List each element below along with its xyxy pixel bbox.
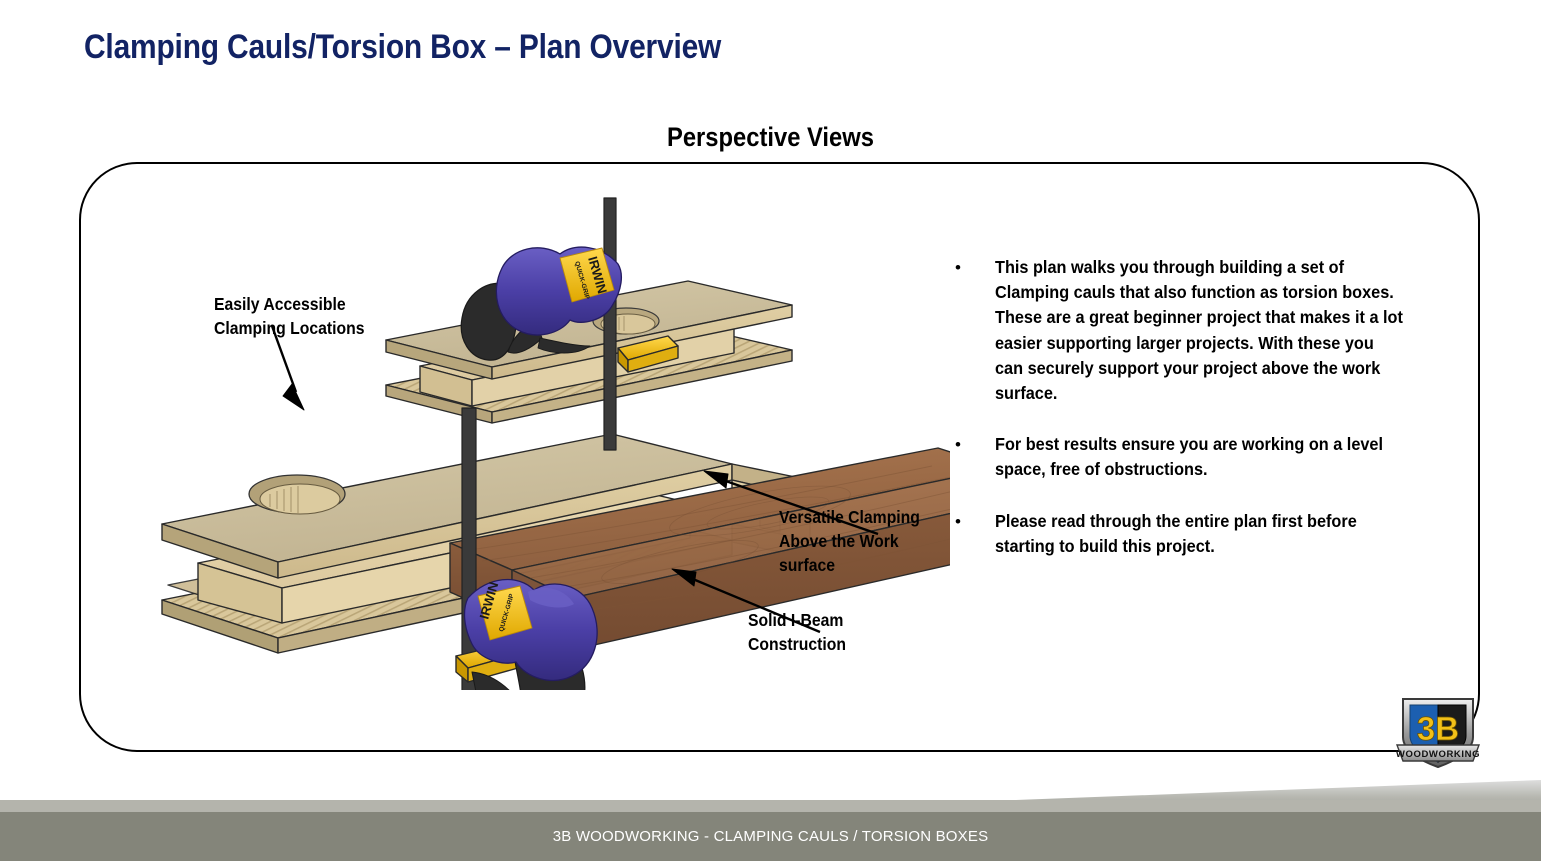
callout-versatile-clamping-above-the-work-surface: Versatile Clamping Above the Work surfac… <box>779 505 920 577</box>
bullet-text: This plan walks you through building a s… <box>995 255 1404 406</box>
overview-bullet-list: • This plan walks you through building a… <box>955 255 1435 585</box>
brand-logo: 3B WOODWORKING <box>1389 693 1487 771</box>
list-item: • Please read through the entire plan fi… <box>955 509 1435 559</box>
callout-easily-accessible-clamping-locations: Easily Accessible Clamping Locations <box>214 292 365 340</box>
list-item: • This plan walks you through building a… <box>955 255 1435 406</box>
list-item: • For best results ensure you are workin… <box>955 432 1435 482</box>
callout-solid-i-beam-construction: Solid I-Beam Construction <box>748 608 846 656</box>
slide-root: Clamping Cauls/Torsion Box – Plan Overvi… <box>0 0 1541 861</box>
section-heading: Perspective Views <box>667 122 874 153</box>
logo-initials: 3B <box>1417 710 1459 747</box>
bullet-marker: • <box>955 432 995 482</box>
bullet-marker: • <box>955 255 995 406</box>
bullet-marker: • <box>955 509 995 559</box>
footer-accent-strip <box>0 800 1541 812</box>
footer-text: 3B WOODWORKING - CLAMPING CAULS / TORSIO… <box>0 828 1541 845</box>
bullet-text: For best results ensure you are working … <box>995 432 1404 482</box>
page-title: Clamping Cauls/Torsion Box – Plan Overvi… <box>84 28 721 67</box>
arrow-accessible-head <box>283 384 304 410</box>
bullet-text: Please read through the entire plan firs… <box>995 509 1404 559</box>
logo-banner-text: WOODWORKING <box>1396 749 1480 760</box>
